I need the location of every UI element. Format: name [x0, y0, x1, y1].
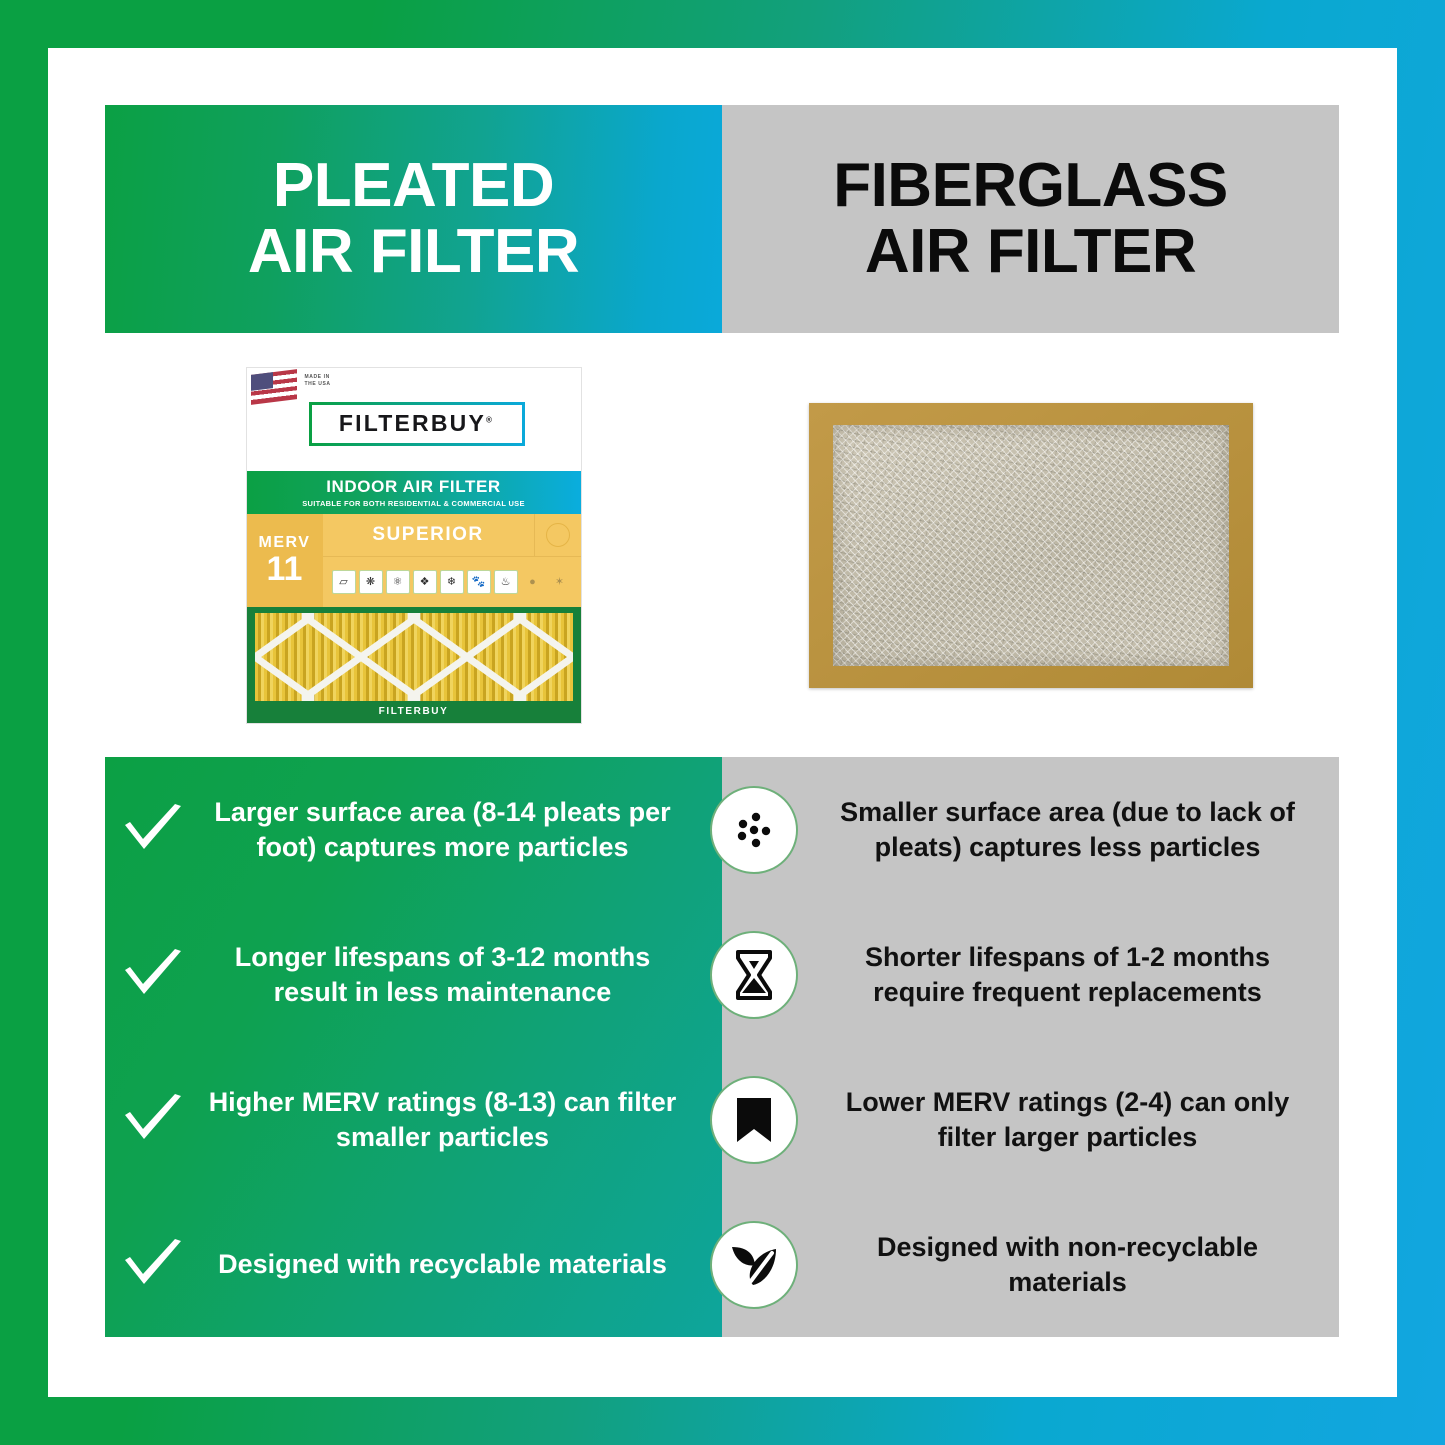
- usa-flag-icon: [251, 369, 297, 405]
- feature-left-text: Longer lifespans of 3-12 months result i…: [201, 940, 700, 1008]
- feature-right-text: Shorter lifespans of 1-2 months require …: [808, 940, 1339, 1008]
- made-in-line1: MADE IN: [305, 374, 330, 380]
- feature-right-text: Designed with non-recyclable materials: [808, 1230, 1339, 1298]
- mold-icon: ♨: [494, 570, 518, 594]
- check-icon: [122, 1239, 184, 1291]
- icon-badge: [710, 931, 798, 1019]
- filterbuy-wordmark: FILTERBUY: [339, 410, 486, 436]
- box-merv-right: SUPERIOR ▱ ❋ ⚛ ❖ ❄ 🐾 ♨ ●: [323, 514, 581, 607]
- pleated-media-illustration: FILTERBUY: [247, 607, 581, 723]
- icon-badge: [710, 1076, 798, 1164]
- feature-comparison: Larger surface area (8-14 pleats per foo…: [105, 757, 1339, 1337]
- allergen-icon: ✶: [548, 570, 572, 594]
- filterbuy-logo-frame: FILTERBUY®: [309, 402, 525, 446]
- infographic-frame: PLEATED AIR FILTER FIBERGLASS AIR FILTER: [0, 0, 1445, 1445]
- fiberglass-product-cell: [722, 333, 1339, 757]
- feature-icon-cell: [700, 786, 808, 874]
- header-fiberglass-line1: FIBERGLASS: [833, 151, 1228, 220]
- feature-row: Longer lifespans of 3-12 months result i…: [105, 902, 1339, 1047]
- bacteria-icon: ❋: [359, 570, 383, 594]
- icon-badge: [710, 786, 798, 874]
- feature-right-text: Smaller surface area (due to lack of ple…: [808, 795, 1339, 863]
- header-pleated-line1: PLEATED: [273, 151, 554, 220]
- feature-icon-cell: [700, 931, 808, 1019]
- filterbuy-logo: FILTERBUY®: [339, 410, 494, 437]
- feature-left-text: Higher MERV ratings (8-13) can filter sm…: [201, 1085, 700, 1153]
- feature-row: Designed with recyclable materials Desig…: [105, 1192, 1339, 1337]
- tier-label: SUPERIOR: [323, 524, 534, 546]
- box-band-subtitle: SUITABLE FOR BOTH RESIDENTIAL & COMMERCI…: [302, 499, 525, 508]
- header-fiberglass-title: FIBERGLASS AIR FILTER: [833, 153, 1228, 284]
- feature-row: Larger surface area (8-14 pleats per foo…: [105, 757, 1339, 902]
- box-footer-brand: FILTERBUY: [247, 701, 581, 723]
- check-cell: [105, 1239, 201, 1291]
- filterbuy-box-image: MADE IN THE USA FILTERBUY® INDOOR AIR FI…: [247, 368, 581, 723]
- pollen-icon: ❄: [440, 570, 464, 594]
- box-band-title: INDOOR AIR FILTER: [326, 477, 501, 497]
- made-in-line2: THE USA: [305, 381, 331, 387]
- bookmark-icon: [732, 1095, 776, 1145]
- check-cell: [105, 804, 201, 856]
- particles-icon: [729, 805, 779, 855]
- pleated-product-cell: MADE IN THE USA FILTERBUY® INDOOR AIR FI…: [105, 333, 722, 757]
- smoke-icon: ❖: [413, 570, 437, 594]
- header-fiberglass-line2: AIR FILTER: [865, 217, 1196, 286]
- odor-icon: ●: [521, 570, 545, 594]
- feature-row: Higher MERV ratings (8-13) can filter sm…: [105, 1047, 1339, 1192]
- comparison-panel: PLEATED AIR FILTER FIBERGLASS AIR FILTER: [105, 105, 1339, 1337]
- header-pleated: PLEATED AIR FILTER: [105, 105, 722, 333]
- diamond-support-grid: [255, 613, 573, 701]
- fiberglass-mesh: [833, 425, 1229, 666]
- header-pleated-line2: AIR FILTER: [248, 217, 579, 286]
- dust-icon: ▱: [332, 570, 356, 594]
- box-indoor-band: INDOOR AIR FILTER SUITABLE FOR BOTH RESI…: [247, 471, 581, 514]
- check-icon: [122, 1094, 184, 1146]
- pet-dander-icon: 🐾: [467, 570, 491, 594]
- merv-block: MERV 11: [247, 514, 323, 607]
- feature-icon-cell: [700, 1221, 808, 1309]
- feature-right-text: Lower MERV ratings (2-4) can only filter…: [808, 1085, 1339, 1153]
- box-top-section: MADE IN THE USA FILTERBUY®: [247, 368, 581, 471]
- merv-value: 11: [267, 552, 303, 586]
- check-cell: [105, 1094, 201, 1146]
- box-merv-section: MERV 11 SUPERIOR ▱ ❋ ⚛: [247, 514, 581, 607]
- check-cell: [105, 949, 201, 1001]
- icon-badge: [710, 1221, 798, 1309]
- made-in-usa-label: MADE IN THE USA: [305, 374, 331, 389]
- hourglass-icon: [731, 949, 777, 1001]
- header-row: PLEATED AIR FILTER FIBERGLASS AIR FILTER: [105, 105, 1339, 333]
- leaves-icon: [728, 1241, 780, 1289]
- fiberglass-filter-image: [809, 403, 1253, 688]
- feature-icon-cell: [700, 1076, 808, 1164]
- tier-row: SUPERIOR: [323, 514, 581, 557]
- ul-circle-icon: [546, 523, 570, 547]
- check-icon: [122, 804, 184, 856]
- feature-left-text: Designed with recyclable materials: [201, 1247, 700, 1281]
- ul-cert-badge: [534, 514, 581, 556]
- feature-rows: Larger surface area (8-14 pleats per foo…: [105, 757, 1339, 1337]
- product-image-band: MADE IN THE USA FILTERBUY® INDOOR AIR FI…: [105, 333, 1339, 757]
- feature-left-text: Larger surface area (8-14 pleats per foo…: [201, 795, 700, 863]
- benefit-icon-strip: ▱ ❋ ⚛ ❖ ❄ 🐾 ♨ ● ✶: [323, 557, 581, 607]
- check-icon: [122, 949, 184, 1001]
- header-fiberglass: FIBERGLASS AIR FILTER: [722, 105, 1339, 333]
- header-pleated-title: PLEATED AIR FILTER: [248, 153, 579, 284]
- virus-icon: ⚛: [386, 570, 410, 594]
- registered-mark: ®: [486, 415, 494, 424]
